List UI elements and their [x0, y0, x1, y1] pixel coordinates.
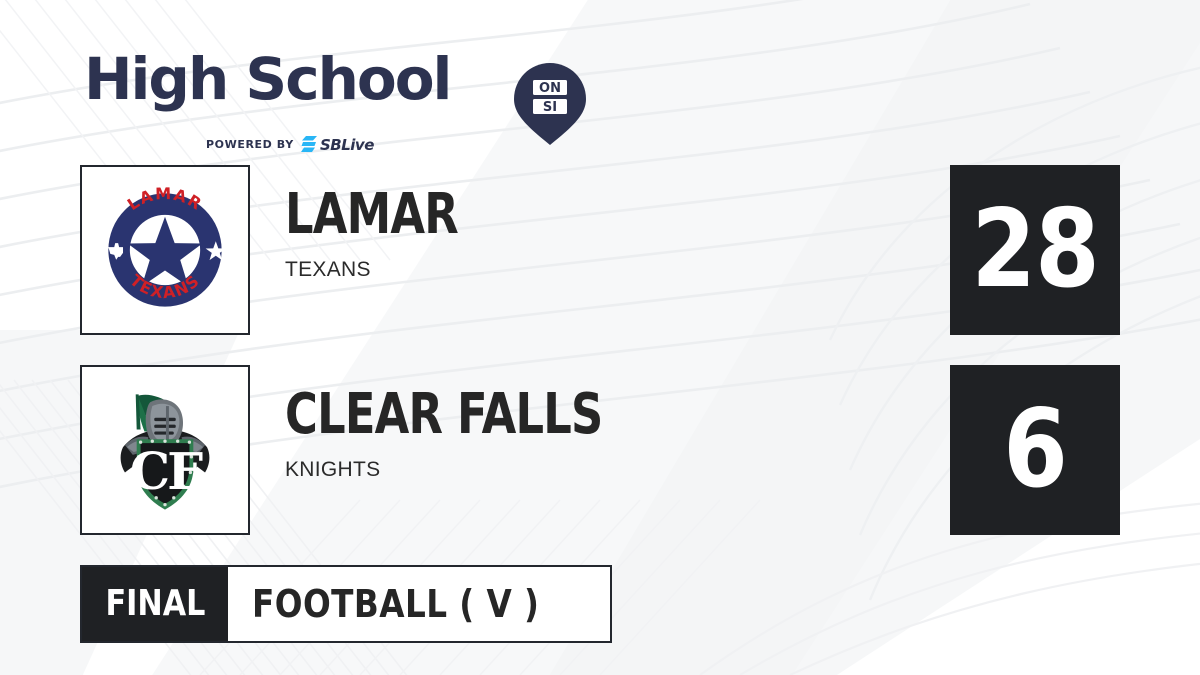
team-score: 6: [1003, 396, 1067, 504]
svg-text:SBLive: SBLive: [320, 136, 374, 154]
logo-monogram: CF: [130, 441, 203, 501]
score-box: 6: [950, 365, 1120, 535]
badge-line-1: ON: [539, 81, 561, 96]
team-info: CLEAR FALLS KNIGHTS: [285, 387, 935, 483]
onsi-pin-badge: ON SI: [514, 63, 586, 145]
team-name: CLEAR FALLS: [285, 387, 805, 443]
status-state-label: FINAL: [105, 586, 205, 622]
team-row: LAMAR TEXANS LAMAR TEXANS 28: [80, 165, 1120, 335]
score-box: 28: [950, 165, 1120, 335]
page-title: High School: [84, 50, 450, 108]
powered-by-row: POWERED BY SBLive: [206, 134, 401, 154]
badge-line-2: SI: [543, 100, 557, 115]
clear-falls-knights-logo: CF: [80, 365, 250, 535]
game-status-bar: FINAL FOOTBALL ( V ): [80, 565, 612, 643]
team-mascot: KNIGHTS: [285, 457, 935, 483]
team-score: 28: [971, 196, 1099, 304]
powered-by-label: POWERED BY: [206, 138, 294, 151]
sport-label-box: FOOTBALL ( V ): [228, 567, 610, 641]
header-branding: High School ON SI POWERED BY: [80, 28, 520, 128]
team-info: LAMAR TEXANS: [285, 187, 935, 283]
sport-label: FOOTBALL ( V ): [252, 585, 539, 623]
sblive-logo: SBLive: [301, 134, 401, 154]
team-row: CF CLEAR FALLS KNIGHTS 6: [80, 365, 1120, 535]
team-name: LAMAR: [285, 187, 805, 243]
team-mascot: TEXANS: [285, 257, 935, 283]
lamar-texans-logo: LAMAR TEXANS: [80, 165, 250, 335]
status-badge: FINAL: [82, 567, 228, 641]
